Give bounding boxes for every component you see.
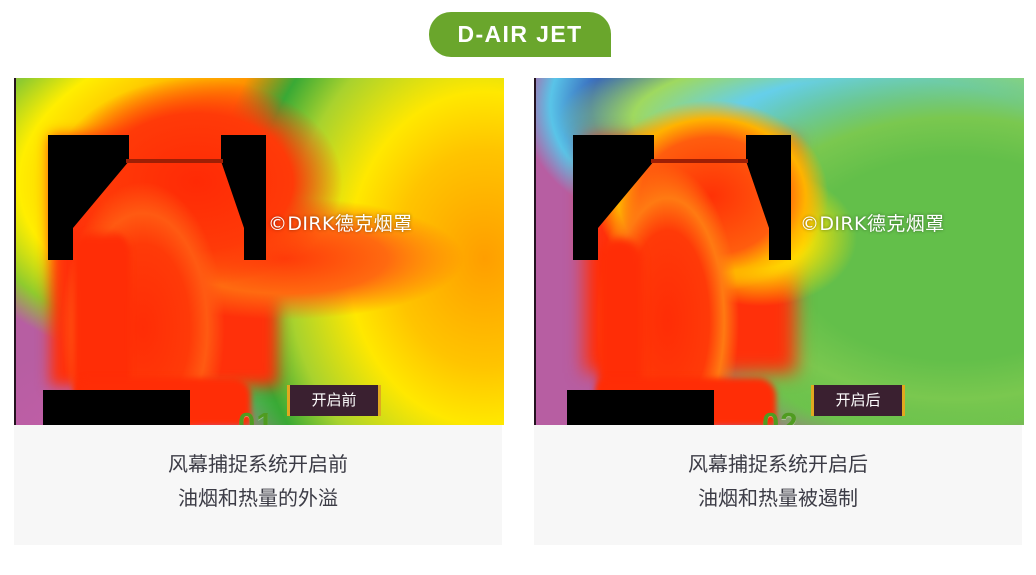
thermal-image-after: ©DIRK德克烟罩 开启后 02	[534, 78, 1024, 425]
header: D-AIR JET	[0, 0, 1036, 72]
caption-line-1: 风幕捕捉系统开启后	[534, 447, 1022, 481]
comparison-card-after: ©DIRK德克烟罩 开启后 02 风幕捕捉系统开启后 油烟和热量被遏制	[534, 78, 1022, 545]
comparison-card-before: ©DIRK德克烟罩 开启前 01 风幕捕捉系统开启前 油烟和热量的外溢	[14, 78, 502, 545]
caption-before: 风幕捕捉系统开启前 油烟和热量的外溢	[14, 425, 502, 545]
state-badge-label: 开启前	[311, 393, 356, 408]
caption-line-2: 油烟和热量被遏制	[534, 481, 1022, 515]
step-number-02: 02	[762, 408, 798, 425]
caption-line-2: 油烟和热量的外溢	[14, 481, 502, 515]
hood-silhouette	[16, 78, 504, 425]
step-number-01: 01	[238, 408, 274, 425]
thermal-image-before: ©DIRK德克烟罩 开启前 01	[14, 78, 504, 425]
hood-silhouette	[536, 78, 1024, 425]
state-badge-after: 开启后	[811, 385, 905, 416]
title-badge: D-AIR JET	[429, 12, 611, 57]
title-badge-label: D-AIR JET	[457, 23, 582, 46]
state-badge-before: 开启前	[287, 385, 381, 416]
watermark-text: ©DIRK德克烟罩	[268, 209, 413, 236]
caption-after: 风幕捕捉系统开启后 油烟和热量被遏制	[534, 425, 1022, 545]
watermark-text: ©DIRK德克烟罩	[800, 209, 945, 236]
state-badge-label: 开启后	[835, 393, 880, 408]
caption-line-1: 风幕捕捉系统开启前	[14, 447, 502, 481]
comparison-grid: ©DIRK德克烟罩 开启前 01 风幕捕捉系统开启前 油烟和热量的外溢	[0, 78, 1036, 558]
